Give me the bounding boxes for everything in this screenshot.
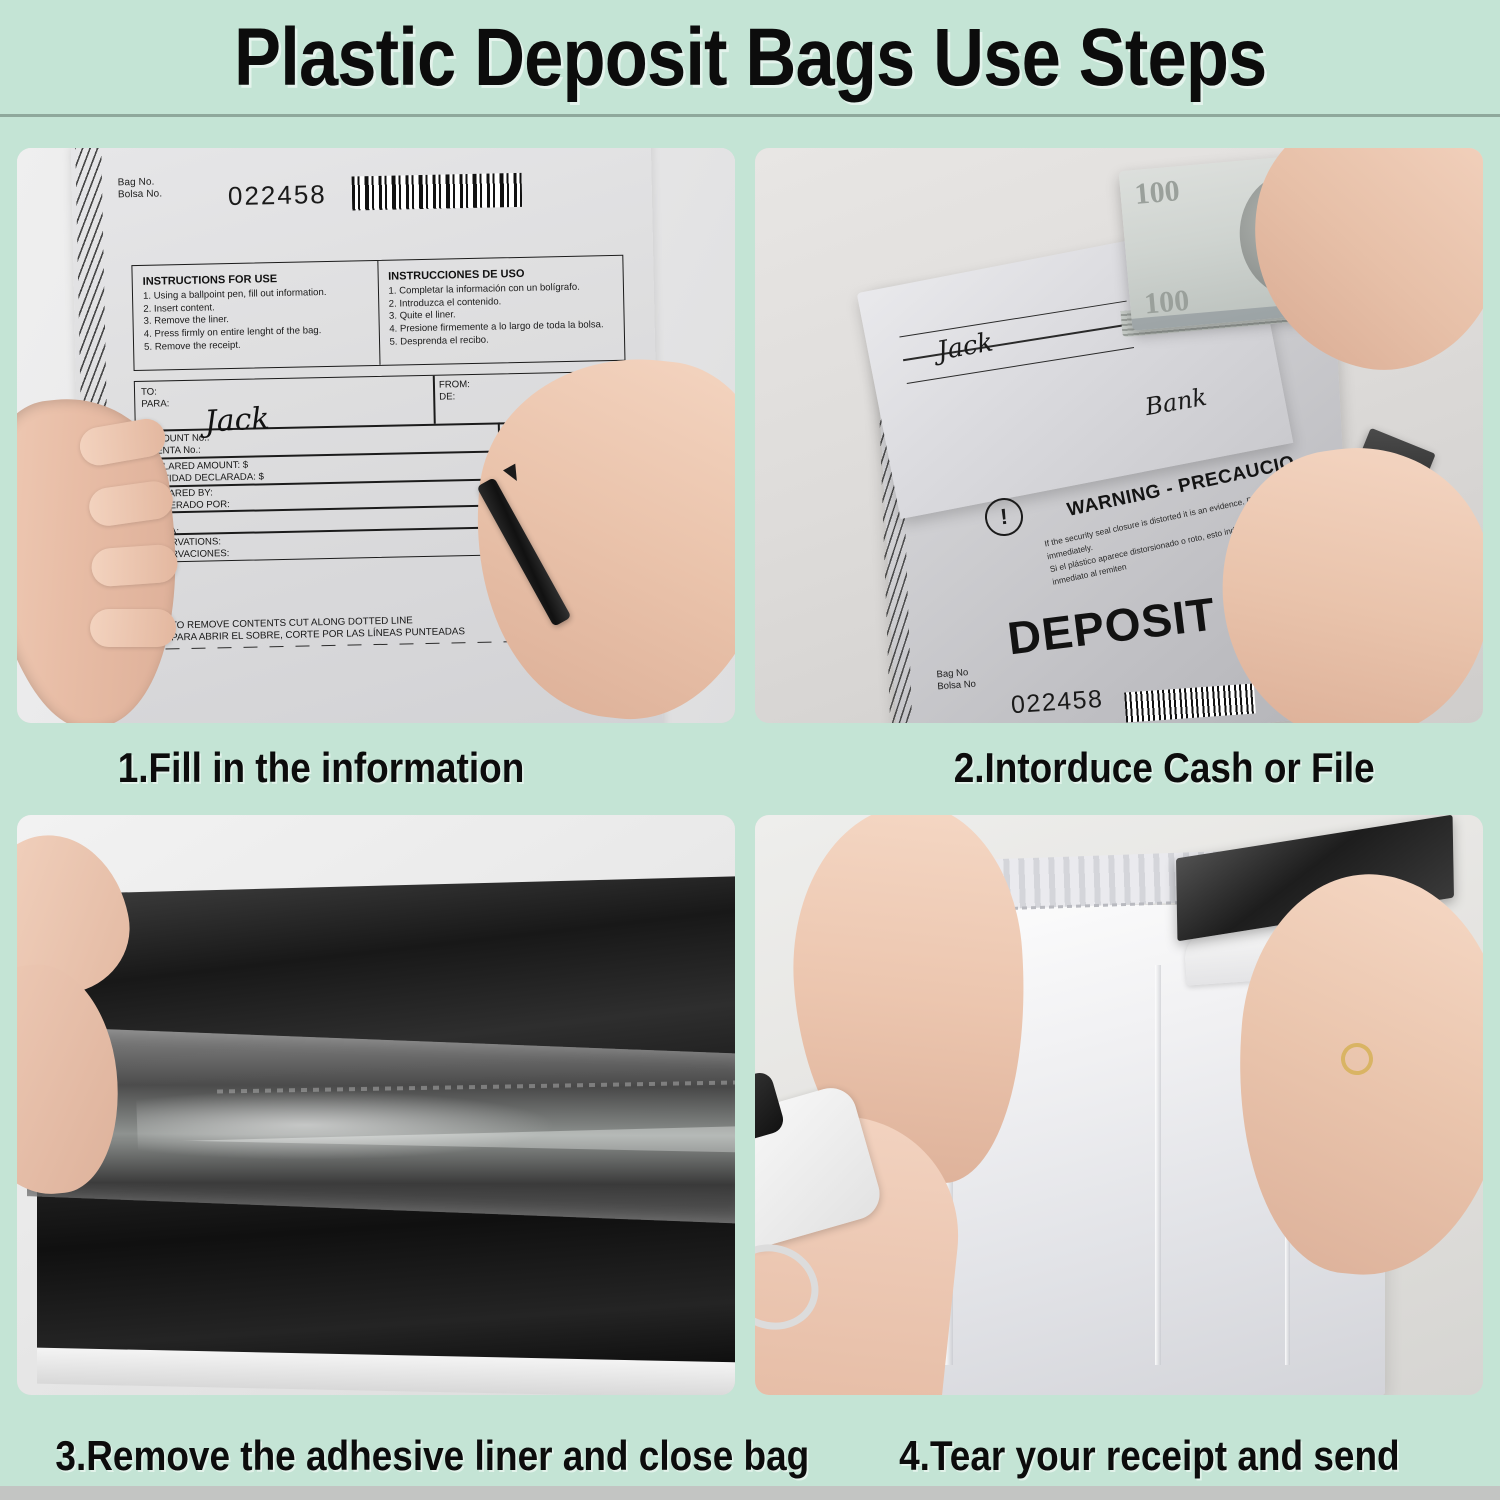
finger — [87, 479, 175, 528]
instructions-es: INSTRUCCIONES DE USO 1. Completar la inf… — [378, 256, 625, 365]
divider — [433, 376, 436, 424]
liner-highlight — [136, 1090, 558, 1160]
instructions-en: INSTRUCTIONS FOR USE 1. Using a ballpoin… — [132, 261, 380, 370]
bag-number: 022458 — [228, 179, 327, 212]
step-4-image: Jack — [755, 815, 1483, 1395]
step-2-image: Jack Bank ! WARNING - PRECAUCIO If the s… — [755, 148, 1483, 723]
field-to: TO: PARA: — [141, 386, 170, 410]
instructions-box: INSTRUCTIONS FOR USE 1. Using a ballpoin… — [131, 255, 625, 371]
step-1-caption: 1.Fill in the information — [118, 744, 525, 792]
field-from-label-es: DE: — [439, 391, 470, 403]
header-bar: Plastic Deposit Bags Use Steps — [0, 0, 1500, 116]
barcode-icon — [352, 173, 523, 211]
header-divider — [0, 114, 1500, 117]
instructions-es-title: INSTRUCCIONES DE USO — [388, 266, 615, 283]
step-3-image — [17, 815, 735, 1395]
step-2-caption: 2.Intorduce Cash or File — [954, 744, 1375, 792]
field-to-label-en: TO: — [141, 386, 169, 398]
finger — [77, 416, 168, 468]
crease — [1155, 965, 1161, 1365]
page-title: Plastic Deposit Bags Use Steps — [234, 11, 1266, 105]
step-3-caption: 3.Remove the adhesive liner and close ba… — [55, 1432, 809, 1480]
handwritten-to-value: Jack — [204, 401, 271, 440]
bag-no-label-es: Bolsa No. — [118, 188, 162, 200]
bag-no-label-en: Bag No. — [118, 176, 162, 188]
bill-denomination: 100 — [1133, 174, 1181, 212]
poster-root: Plastic Deposit Bags Use Steps Bag No. B… — [0, 0, 1500, 1500]
bag-no-label-group: Bag No Bolsa No — [936, 667, 976, 693]
field-from-label-en: FROM: — [439, 379, 470, 391]
bottom-strip — [0, 1486, 1500, 1500]
cut-instruction: TO REMOVE CONTENTS CUT ALONG DOTTED LINE… — [171, 614, 465, 645]
instructions-en-title: INSTRUCTIONS FOR USE — [143, 271, 370, 288]
finger — [90, 609, 176, 647]
finger — [90, 544, 178, 588]
field-from: FROM: DE: — [439, 379, 470, 403]
field-to-label-es: PARA: — [141, 398, 169, 410]
bag-no-label-group: Bag No. Bolsa No. — [118, 176, 163, 200]
step-4-caption: 4.Tear your receipt and send — [899, 1432, 1400, 1480]
step-1-image: Bag No. Bolsa No. 022458 INSTRUCTIONS FO… — [17, 148, 735, 723]
